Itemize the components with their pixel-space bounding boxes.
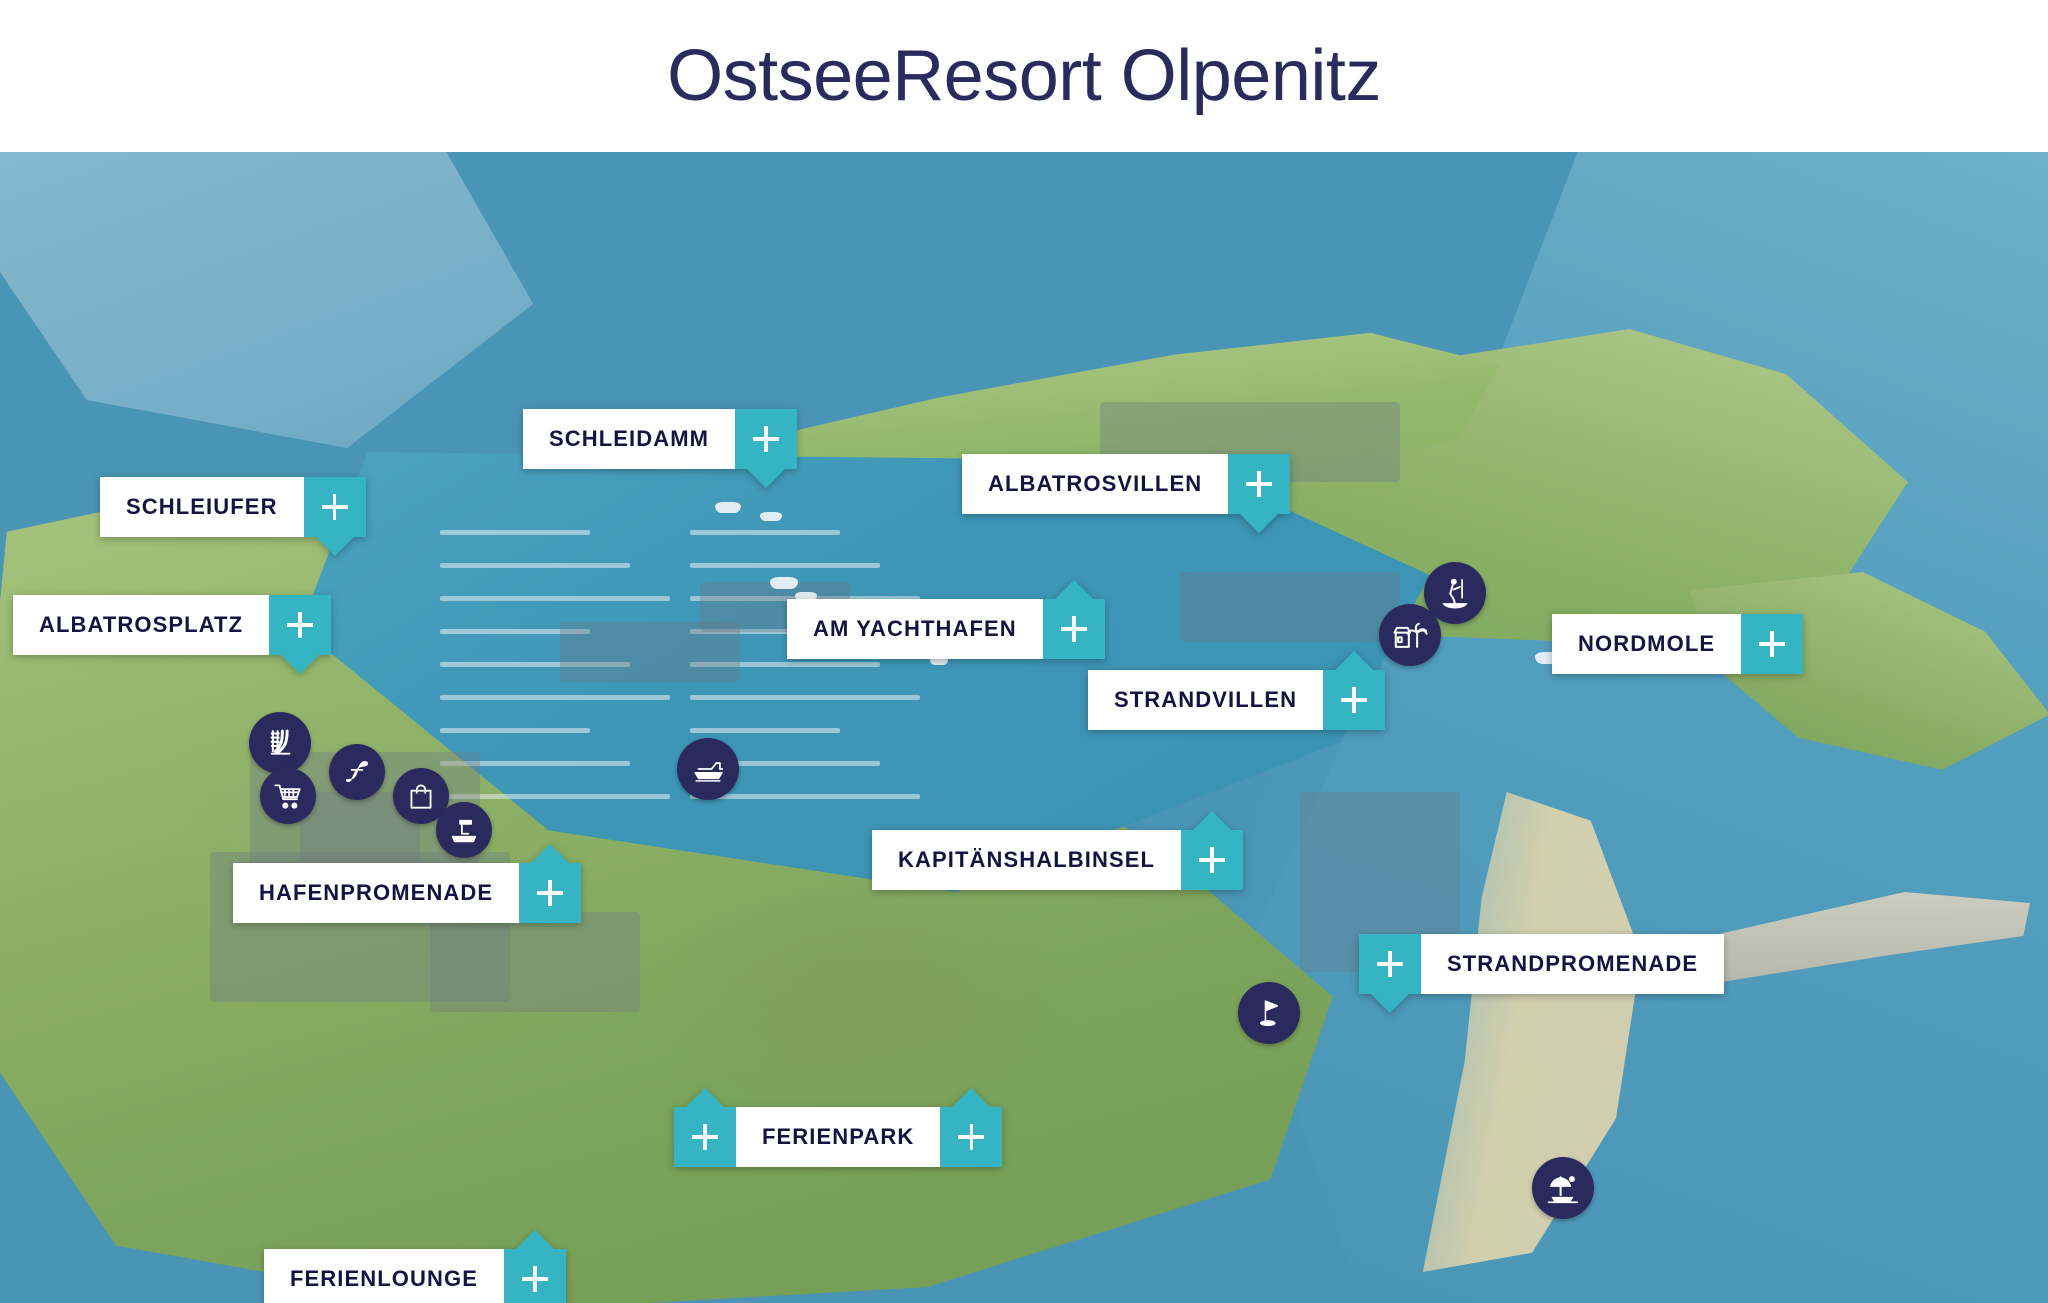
- hotspot-am-yachthafen[interactable]: AM YACHTHAFEN: [787, 599, 1105, 659]
- poi-motorboat[interactable]: [677, 738, 739, 800]
- page-title: OstseeResort Olpenitz: [667, 40, 1381, 112]
- hotspot-hafenpromenade[interactable]: HAFENPROMENADE: [233, 863, 581, 923]
- plus-button-albatrosvillen[interactable]: [1228, 454, 1290, 514]
- hotspot-label-box[interactable]: AM YACHTHAFEN: [787, 599, 1043, 659]
- hotspot-label-box[interactable]: ALBATROSPLATZ: [13, 595, 269, 655]
- poi-beach[interactable]: [1532, 1157, 1594, 1219]
- plus-button-ferienpark[interactable]: [674, 1107, 736, 1167]
- pointer-triangle-icon: [686, 1088, 724, 1107]
- hotspot-label-box[interactable]: HAFENPROMENADE: [233, 863, 519, 923]
- pointer-triangle-icon: [1193, 811, 1231, 830]
- plus-button-strandpromenade[interactable]: [1359, 934, 1421, 994]
- plus-button-schleidamm[interactable]: [735, 409, 797, 469]
- hotspot-label-box[interactable]: NORDMOLE: [1552, 614, 1741, 674]
- poi-shopping[interactable]: [260, 768, 316, 824]
- poi-golf[interactable]: [1238, 982, 1300, 1044]
- hotspot-label: STRANDPROMENADE: [1447, 953, 1698, 975]
- pointer-triangle-icon: [281, 655, 319, 674]
- resort-map: SCHLEIDAMMALBATROSVILLENSCHLEIUFERALBATR…: [0, 152, 2048, 1303]
- hotspot-label-box[interactable]: SCHLEIUFER: [100, 477, 304, 537]
- hotspot-label: HAFENPROMENADE: [259, 882, 493, 904]
- hotspot-label-box[interactable]: ALBATROSVILLEN: [962, 454, 1228, 514]
- hotspot-strandvillen[interactable]: STRANDVILLEN: [1088, 670, 1385, 730]
- boat: [715, 502, 741, 513]
- hotspot-label-box[interactable]: FERIENPARK: [736, 1107, 940, 1167]
- hotspot-label: ALBATROSPLATZ: [39, 614, 243, 636]
- hotspot-label-box[interactable]: SCHLEIDAMM: [523, 409, 735, 469]
- hotspot-label: STRANDVILLEN: [1114, 689, 1297, 711]
- poi-market[interactable]: [1379, 604, 1441, 666]
- pointer-triangle-icon: [952, 1088, 990, 1107]
- hotspot-label: AM YACHTHAFEN: [813, 618, 1017, 640]
- pointer-triangle-icon: [1335, 651, 1373, 670]
- hotspot-ferienpark[interactable]: FERIENPARK: [674, 1107, 1002, 1167]
- built-area: [430, 912, 640, 1012]
- boat: [770, 577, 798, 589]
- pointer-triangle-icon: [1055, 580, 1093, 599]
- water-slide-icon: [261, 724, 299, 762]
- motorboat-icon: [689, 750, 727, 788]
- boat: [760, 512, 782, 521]
- hotspot-nordmole[interactable]: NORDMOLE: [1552, 614, 1803, 674]
- hotspot-ferienlounge[interactable]: FERIENLOUNGE: [264, 1249, 566, 1303]
- hotspot-label-box[interactable]: KAPITÄNSHALBINSEL: [872, 830, 1181, 890]
- hotspot-albatrosplatz[interactable]: ALBATROSPLATZ: [13, 595, 331, 655]
- hotspot-label: FERIENPARK: [762, 1126, 914, 1148]
- market-palm-icon: [1391, 616, 1429, 654]
- hotspot-label: ALBATROSVILLEN: [988, 473, 1202, 495]
- plus-button-kapitaenshalbinsel[interactable]: [1181, 830, 1243, 890]
- hotspot-label: SCHLEIUFER: [126, 496, 278, 518]
- plus-button-hafenpromenade[interactable]: [519, 863, 581, 923]
- poi-waterslide[interactable]: [249, 712, 311, 774]
- paddleboard-icon: [1436, 574, 1474, 612]
- plus-button-albatrosplatz[interactable]: [269, 595, 331, 655]
- plus-button-nordmole[interactable]: [1741, 614, 1803, 674]
- hotspot-label-box[interactable]: STRANDVILLEN: [1088, 670, 1323, 730]
- pointer-triangle-icon: [516, 1230, 554, 1249]
- hotspot-label: KAPITÄNSHALBINSEL: [898, 849, 1155, 871]
- hotspot-label: FERIENLOUNGE: [290, 1268, 478, 1290]
- plus-button-strandvillen[interactable]: [1323, 670, 1385, 730]
- shopping-cart-icon: [271, 779, 305, 813]
- golf-flag-icon: [1250, 994, 1288, 1032]
- hotspot-label-box[interactable]: FERIENLOUNGE: [264, 1249, 504, 1303]
- plus-button-schleiufer[interactable]: [304, 477, 366, 537]
- hotspot-albatrosvillen[interactable]: ALBATROSVILLEN: [962, 454, 1290, 514]
- hotspot-label: NORDMOLE: [1578, 633, 1715, 655]
- hotspot-schleidamm[interactable]: SCHLEIDAMM: [523, 409, 797, 469]
- built-area: [1180, 572, 1400, 642]
- plus-button-ferienpark[interactable]: [940, 1107, 1002, 1167]
- page-title-bar: OstseeResort Olpenitz: [0, 0, 2048, 152]
- hotspot-kapitaenshalbinsel[interactable]: KAPITÄNSHALBINSEL: [872, 830, 1243, 890]
- hotspot-label-box[interactable]: STRANDPROMENADE: [1421, 934, 1724, 994]
- pointer-triangle-icon: [531, 844, 569, 863]
- pointer-triangle-icon: [1240, 514, 1278, 533]
- resort-map-page: OstseeResort Olpenitz SCHLEIDAMMALBATROS…: [0, 0, 2048, 1303]
- harbour-crane-icon: [447, 813, 481, 847]
- plus-button-ferienlounge[interactable]: [504, 1249, 566, 1303]
- poi-restaurant[interactable]: [329, 744, 385, 800]
- plus-button-am-yachthafen[interactable]: [1043, 599, 1105, 659]
- pointer-triangle-icon: [316, 537, 354, 556]
- shopping-bag-icon: [404, 779, 438, 813]
- pointer-triangle-icon: [1371, 994, 1409, 1013]
- hotspot-label: SCHLEIDAMM: [549, 428, 709, 450]
- hotspot-strandpromenade[interactable]: STRANDPROMENADE: [1359, 934, 1724, 994]
- poi-pier[interactable]: [436, 802, 492, 858]
- pointer-triangle-icon: [747, 469, 785, 488]
- beach-umbrella-icon: [1544, 1169, 1582, 1207]
- restaurant-f-icon: [340, 755, 374, 789]
- hotspot-schleiufer[interactable]: SCHLEIUFER: [100, 477, 366, 537]
